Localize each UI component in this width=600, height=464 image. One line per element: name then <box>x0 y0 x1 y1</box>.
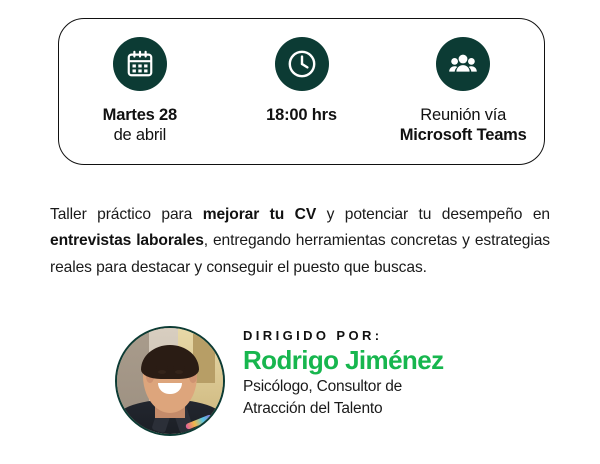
calendar-icon <box>113 37 167 91</box>
description-segment-3: entrevistas laborales <box>50 232 204 249</box>
people-group-icon <box>436 37 490 91</box>
workshop-description: Taller práctico para mejorar tu CV y pot… <box>50 202 550 282</box>
portrait-brow-right <box>173 366 185 369</box>
info-column-time-lines: 18:00 hrs <box>266 105 337 125</box>
portrait-brow-left <box>156 366 168 369</box>
speaker-section: DIRIGIDO POR: Rodrigo Jiménez Psicólogo,… <box>0 322 600 447</box>
event-platform-primary: Reunión vía <box>400 105 527 125</box>
info-column-date-lines: Martes 28 de abril <box>103 105 177 145</box>
info-column-date: Martes 28 de abril <box>59 19 221 145</box>
info-column-platform: Reunión vía Microsoft Teams <box>382 19 544 145</box>
info-column-platform-lines: Reunión vía Microsoft Teams <box>400 105 527 145</box>
speaker-role-line-1: Psicólogo, Consultor de <box>243 377 543 397</box>
event-info-card: Martes 28 de abril 18:00 hrs <box>58 18 545 165</box>
speaker-role-line-2: Atracción del Talento <box>243 399 543 419</box>
description-segment-0: Taller práctico para <box>50 206 203 223</box>
event-date-primary: Martes 28 <box>103 105 177 125</box>
event-platform-secondary: Microsoft Teams <box>400 125 527 145</box>
info-column-time: 18:00 hrs <box>221 19 383 125</box>
speaker-details: DIRIGIDO POR: Rodrigo Jiménez Psicólogo,… <box>243 322 543 419</box>
speaker-kicker: DIRIGIDO POR: <box>243 328 543 343</box>
speaker-name: Rodrigo Jiménez <box>243 345 543 375</box>
event-date-secondary: de abril <box>103 125 177 145</box>
clock-icon <box>275 37 329 91</box>
description-segment-1: mejorar tu CV <box>203 206 316 223</box>
avatar <box>115 326 225 436</box>
event-time-primary: 18:00 hrs <box>266 105 337 125</box>
description-segment-2: y potenciar tu desempeño en <box>316 206 550 223</box>
